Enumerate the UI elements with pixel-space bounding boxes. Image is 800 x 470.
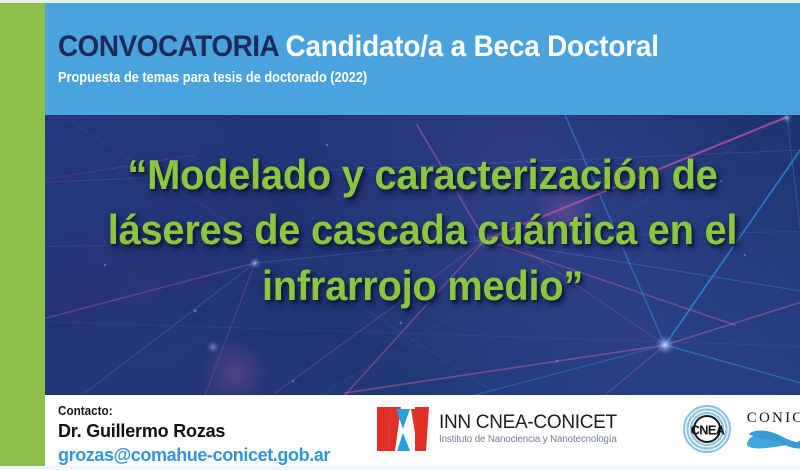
hero-title: “Modelado y caracterización de láseres d…	[64, 147, 781, 313]
hero-section: “Modelado y caracterización de láseres d…	[45, 115, 800, 395]
svg-text:CNEA: CNEA	[691, 424, 725, 438]
header-title-keyword: CONVOCATORIA	[58, 30, 286, 63]
cnea-logo[interactable]: CNEA	[683, 405, 731, 453]
header-subtitle: Propuesta de temas para tesis de doctora…	[58, 70, 700, 86]
header-title-rest: Candidato/a a Beca Doctoral	[286, 30, 659, 63]
svg-text:CONICET: CONICET	[747, 410, 800, 426]
contact-email-link[interactable]: grozas@comahue-conicet.gob.ar	[58, 445, 330, 467]
conicet-logo[interactable]: CONICET	[741, 405, 800, 455]
inn-logo-icon	[375, 403, 431, 455]
footer-band: Contacto: Dr. Guillermo Rozas grozas@com…	[45, 395, 800, 466]
inn-logo-subtitle: Instituto de Nanociencia y Nanotecnologí…	[439, 435, 617, 445]
inn-logo-title: INN CNEA-CONICET	[439, 413, 622, 432]
hero-title-line-1: “Modelado y caracterización de	[64, 147, 781, 202]
contact-block: Contacto: Dr. Guillermo Rozas grozas@com…	[58, 403, 330, 467]
header-title: CONVOCATORIA Candidato/a a Beca Doctoral	[58, 31, 737, 63]
cnea-logo-icon: CNEA	[683, 405, 731, 453]
contact-name: Dr. Guillermo Rozas	[58, 421, 330, 443]
inn-logo[interactable]: INN CNEA-CONICET Instituto de Nanocienci…	[375, 403, 622, 455]
inn-logo-text: INN CNEA-CONICET Instituto de Nanocienci…	[439, 413, 622, 445]
header-text-block: CONVOCATORIA Candidato/a a Beca Doctoral…	[58, 31, 788, 86]
hero-title-line-2: láseres de cascada cuántica en el	[64, 202, 781, 257]
green-accent-bar	[0, 3, 45, 466]
hero-title-line-3: infrarrojo medio”	[64, 258, 781, 313]
header-band: CONVOCATORIA Candidato/a a Beca Doctoral…	[45, 3, 800, 115]
logo-row: INN CNEA-CONICET Instituto de Nanocienci…	[375, 399, 795, 463]
contact-label: Contacto:	[58, 403, 303, 419]
poster-container: CONVOCATORIA Candidato/a a Beca Doctoral…	[0, 0, 800, 470]
conicet-logo-icon: CONICET	[741, 405, 800, 455]
